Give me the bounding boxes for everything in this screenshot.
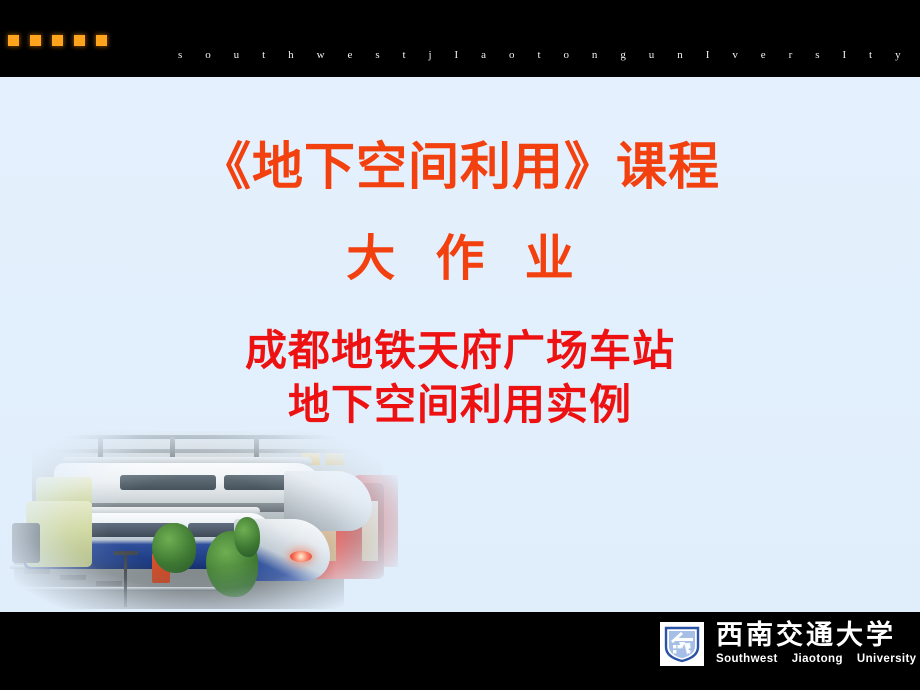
university-name-en-word: Southwest [716,653,778,665]
track-sleeper [24,569,50,574]
university-name-en-word: Jiaotong [792,653,843,665]
page-title-line-1: 《地下空间利用》课程 [0,125,920,199]
platform-shrub [152,523,196,573]
banner-square-icon [52,35,63,46]
green-loco-skirt [12,523,40,563]
train-photo-inner [2,427,398,612]
banner-square-icon [30,35,41,46]
university-logo: 西南交通大学 SouthwestJiaotongUniversity [660,622,916,666]
banner-square-icon [8,35,19,46]
banner-square-icon [74,35,85,46]
top-banner: s o u t h w e s t j I a o t o n g u n I … [0,0,920,77]
depot-window [326,453,344,465]
page-subtitle-line-2: 地下空间利用实例 [0,371,920,432]
university-name-block: 西南交通大学 SouthwestJiaotongUniversity [716,622,916,666]
silver-train-window [120,475,216,490]
platform-shrub [234,517,260,557]
track-sleeper [96,581,122,586]
page-title-line-2: 大 作 业 [0,219,920,290]
track-sleeper [60,575,86,580]
train-headlamp [290,551,312,562]
university-name-cn: 西南交通大学 [716,622,916,649]
title-slide: s o u t h w e s t j I a o t o n g u n I … [0,0,920,690]
slide-body: 《地下空间利用》课程 大 作 业 成都地铁天府广场车站 地下空间利用实例 [0,77,920,612]
university-crest-icon [660,622,704,666]
university-name-en: SouthwestJiaotongUniversity [716,654,916,666]
platform-post [124,553,127,607]
platform-post-arm [114,551,138,555]
depot-beam [32,435,382,439]
banner-square-icon [96,35,107,46]
page-subtitle-line-1: 成都地铁天府广场车站 [0,317,920,378]
bottom-bar: 西南交通大学 SouthwestJiaotongUniversity [0,612,920,690]
banner-wordmark: s o u t h w e s t j I a o t o n g u n I … [178,49,738,61]
university-name-en-word: University [857,653,917,665]
train-photo [2,427,398,612]
banner-square-group [8,35,107,46]
depot-beam [42,449,372,453]
